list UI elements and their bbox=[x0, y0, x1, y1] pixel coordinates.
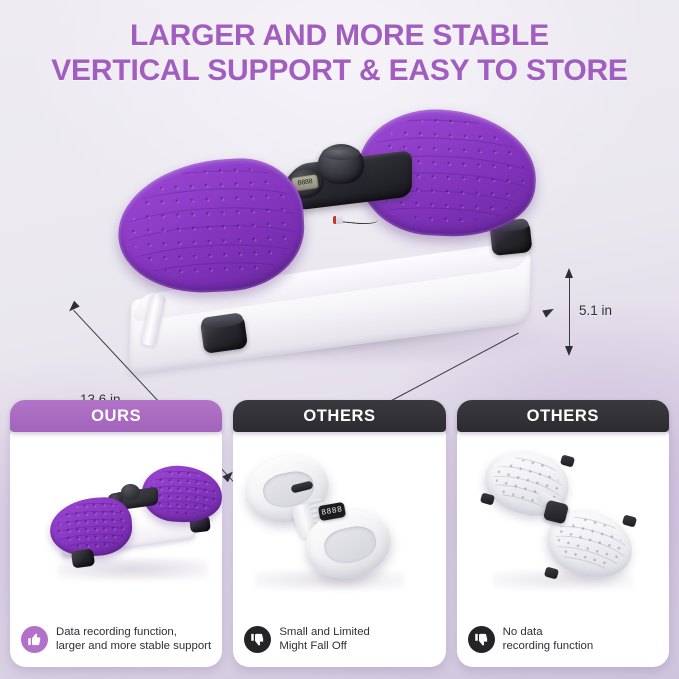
comparison-card-ours: OURS bbox=[10, 400, 222, 679]
headline-line-1: LARGER AND MORE STABLE bbox=[130, 19, 549, 52]
product-foot-front bbox=[200, 314, 248, 354]
card-caption-others-1: Small and Limited Might Fall Off bbox=[279, 625, 370, 653]
page-title: LARGER AND MORE STABLE VERTICAL SUPPORT … bbox=[0, 18, 679, 88]
dimension-label-height: 5.1 in bbox=[579, 303, 612, 318]
dimension-line-height bbox=[569, 276, 570, 348]
card-header-ours: OURS bbox=[10, 400, 222, 432]
competitor-center-hub bbox=[543, 500, 569, 525]
card-footer-others-2: No data recording function bbox=[457, 625, 669, 667]
hero-product-photo: 8888 13.6 in 21.3 in 5.1 in bbox=[0, 96, 679, 396]
card-footer-others-1: Small and Limited Might Fall Off bbox=[233, 625, 445, 667]
card-body-others-2: No data recording function bbox=[457, 426, 669, 667]
card-body-others-1: 8888 Small and Limited Might Fall Off bbox=[233, 426, 445, 667]
comparison-card-others-1: OTHERS 8888 bbox=[233, 400, 445, 679]
card-footer-ours: Data recording function, larger and more… bbox=[10, 625, 222, 667]
product-resistance-knob bbox=[318, 144, 364, 184]
competitor-disc-pad bbox=[321, 522, 379, 567]
thumbs-down-icon bbox=[244, 626, 271, 653]
competitor-bowtie-stepper bbox=[469, 446, 655, 594]
dimension-arrowhead-height-bottom bbox=[565, 346, 573, 356]
dimension-arrowhead-height-top bbox=[565, 268, 573, 278]
product-marketing-image: LARGER AND MORE STABLE VERTICAL SUPPORT … bbox=[0, 0, 679, 679]
mini-foot-front bbox=[71, 549, 95, 569]
mini-stepper-purple bbox=[24, 454, 222, 584]
thumbs-down-icon bbox=[468, 626, 495, 653]
competitor-clip bbox=[622, 514, 637, 527]
mini-resistance-knob bbox=[121, 484, 140, 500]
card-product-image-others-2 bbox=[457, 426, 669, 625]
card-body-ours: Data recording function, larger and more… bbox=[10, 426, 222, 667]
comparison-card-row: OURS bbox=[0, 400, 679, 679]
product-sensor-plug bbox=[333, 216, 343, 224]
thumbs-up-icon bbox=[21, 626, 48, 653]
competitor-disc-stepper: 8888 bbox=[239, 448, 429, 592]
card-product-image-ours bbox=[10, 426, 222, 625]
card-caption-ours: Data recording function, larger and more… bbox=[56, 625, 211, 653]
card-header-others-1: OTHERS bbox=[233, 400, 445, 432]
card-product-image-others-1: 8888 bbox=[233, 426, 445, 625]
product-pedal-left bbox=[115, 155, 308, 297]
dimension-arrowhead-depth-start bbox=[66, 301, 79, 314]
competitor-clip bbox=[560, 454, 575, 467]
comparison-card-others-2: OTHERS bbox=[457, 400, 669, 679]
card-header-others-2: OTHERS bbox=[457, 400, 669, 432]
headline-line-2: VERTICAL SUPPORT & EASY TO STORE bbox=[0, 53, 679, 88]
competitor-clip bbox=[480, 492, 495, 505]
card-caption-others-2: No data recording function bbox=[503, 625, 594, 653]
